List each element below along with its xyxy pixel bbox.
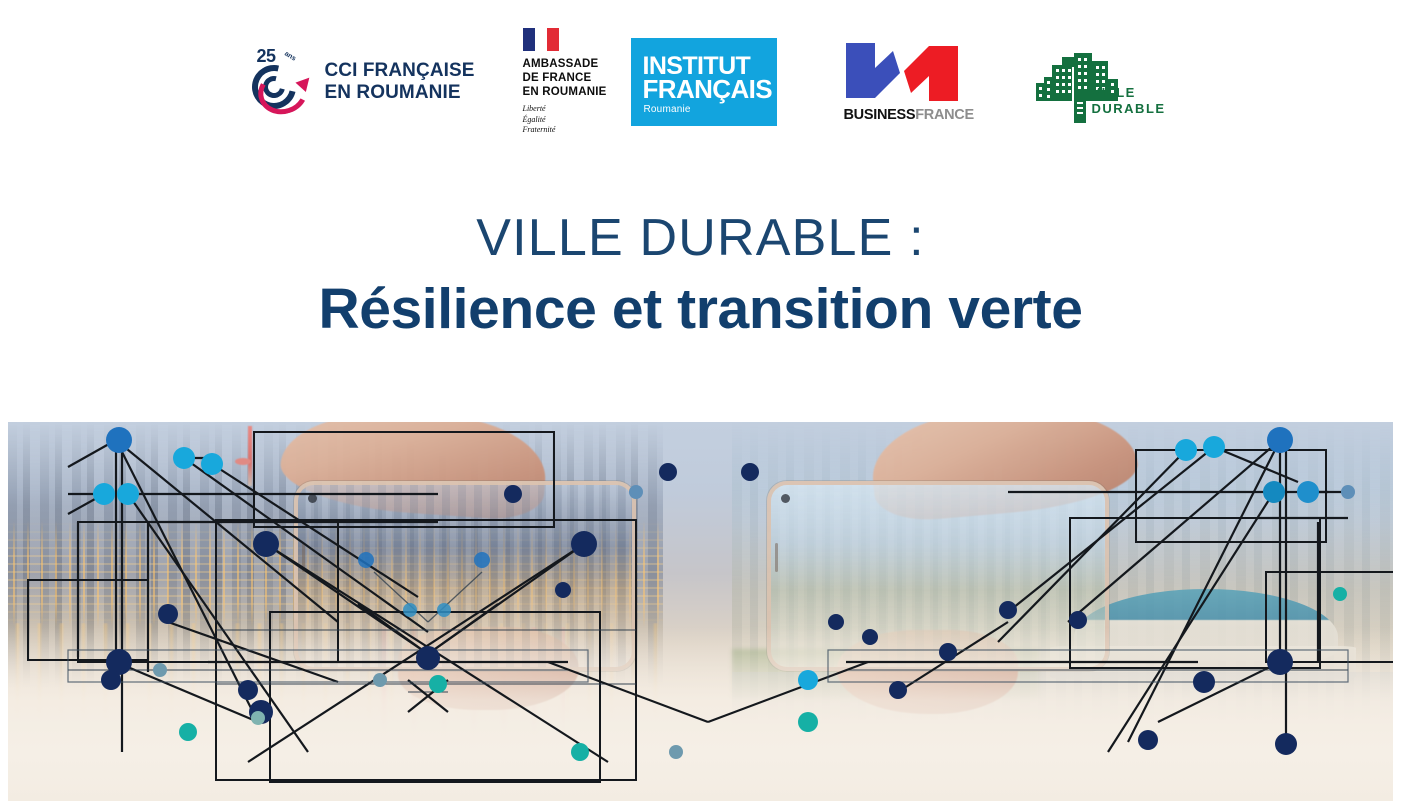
- network-graph-overlay: [8, 422, 1401, 801]
- network-edges: [28, 432, 1396, 782]
- hero-left-margin: [0, 422, 8, 801]
- business-france-red-arrow-icon: [902, 41, 960, 103]
- institut-francais-blue-box: INSTITUT FRANÇAIS Roumanie: [631, 38, 777, 126]
- republic-motto: Liberté Égalité Fraternité: [523, 104, 607, 136]
- motto-liberte: Liberté: [523, 104, 607, 115]
- ambassade-line3: EN ROUMANIE: [523, 85, 607, 99]
- logo-institut-francais-roumanie: INSTITUT FRANÇAIS Roumanie: [631, 32, 777, 132]
- business-france-blue-arrow-icon: [844, 41, 902, 103]
- hero-image: [8, 422, 1401, 801]
- business-france-wordmark: BUSINESSFRANCE: [844, 108, 970, 123]
- ambassade-line1: AMBASSADE: [523, 57, 607, 71]
- french-flag-icon: [523, 28, 559, 51]
- institut-country-label: Roumanie: [644, 104, 691, 115]
- france-word: FRANCE: [915, 107, 974, 123]
- ville-durable-line1: VILLE: [1092, 85, 1166, 101]
- logo-business-france: BUSINESSFRANCE: [839, 32, 975, 132]
- network-nodes: [93, 427, 1355, 761]
- poster-root: 25 ans CCI FRANÇAISE EN ROUMANIE: [0, 0, 1401, 801]
- cci-wordmark: CCI FRANÇAISE EN ROUMANIE: [324, 60, 474, 103]
- cci-wordmark-line2: EN ROUMANIE: [324, 82, 474, 104]
- hero-right-margin: [1393, 422, 1401, 801]
- business-word: BUSINESS: [844, 107, 916, 123]
- partner-logo-bar: 25 ans CCI FRANÇAISE EN ROUMANIE: [0, 28, 1401, 136]
- institut-line2: FRANÇAIS: [643, 76, 773, 102]
- ville-durable-line2: DURABLE: [1092, 101, 1166, 117]
- title-primary: VILLE DURABLE :: [0, 210, 1401, 266]
- hero-photo-composite: [8, 422, 1401, 801]
- logo-cci-francaise-en-roumanie: 25 ans CCI FRANÇAISE EN ROUMANIE: [261, 32, 461, 132]
- cci-anniversary-unit: ans: [283, 50, 297, 62]
- ambassade-wordmark: AMBASSADE DE FRANCE EN ROUMANIE: [523, 57, 607, 99]
- motto-fraternite: Fraternité: [523, 125, 607, 136]
- cci-monogram-icon: 25 ans: [246, 46, 318, 118]
- logo-ville-durable: VILLE DURABLE: [1021, 32, 1141, 132]
- cci-wordmark-line1: CCI FRANÇAISE: [324, 60, 474, 82]
- ville-durable-wordmark: VILLE DURABLE: [1092, 85, 1166, 118]
- title-subtitle: Résilience et transition verte: [0, 278, 1401, 341]
- logo-ambassade-de-france: AMBASSADE DE FRANCE EN ROUMANIE Liberté …: [513, 32, 617, 132]
- ambassade-line2: DE FRANCE: [523, 71, 607, 85]
- poster-title-block: VILLE DURABLE : Résilience et transition…: [0, 210, 1401, 341]
- motto-egalite: Égalité: [523, 115, 607, 126]
